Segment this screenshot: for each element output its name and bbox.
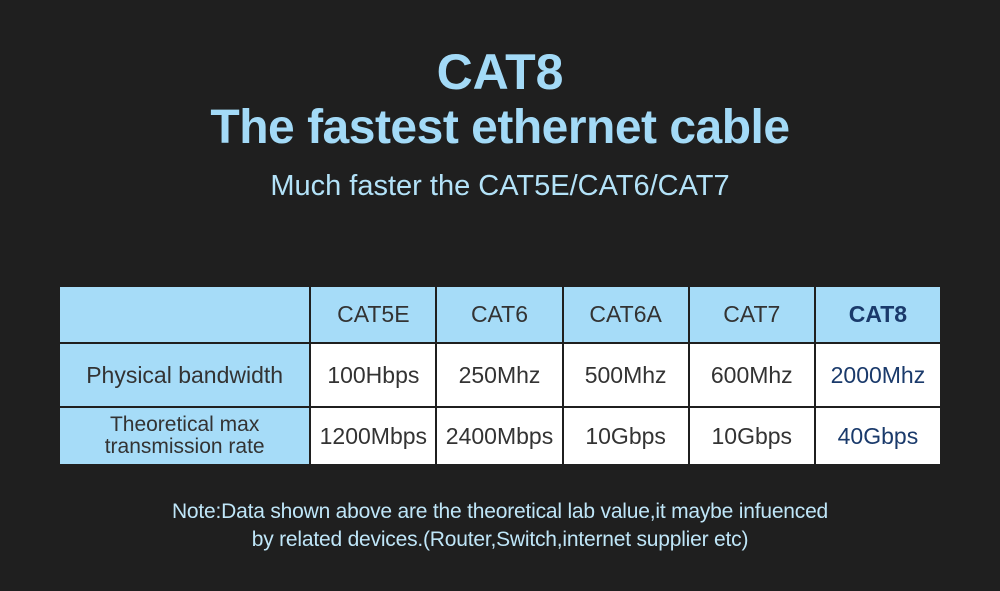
column-header-cat7: CAT7 bbox=[689, 286, 815, 343]
row-label-line-1: Theoretical max bbox=[60, 414, 309, 436]
cell-transmission-rate-cat5e: 1200Mbps bbox=[310, 407, 436, 465]
column-header-cat5e: CAT5E bbox=[310, 286, 436, 343]
cable-comparison-table: CAT5E CAT6 CAT6A CAT7 CAT8 Physical band… bbox=[58, 285, 942, 466]
cell-physical-bandwidth-cat6a: 500Mhz bbox=[563, 343, 689, 407]
cell-transmission-rate-cat6a: 10Gbps bbox=[563, 407, 689, 465]
cell-transmission-rate-cat7: 10Gbps bbox=[689, 407, 815, 465]
cell-physical-bandwidth-cat6: 250Mhz bbox=[436, 343, 562, 407]
row-label-line-2: transmission rate bbox=[60, 436, 309, 458]
cell-transmission-rate-cat6: 2400Mbps bbox=[436, 407, 562, 465]
column-header-cat6a: CAT6A bbox=[563, 286, 689, 343]
cell-physical-bandwidth-cat5e: 100Hbps bbox=[310, 343, 436, 407]
footnote-line-2: by related devices.(Router,Switch,intern… bbox=[0, 526, 1000, 554]
table-row: Physical bandwidth 100Hbps 250Mhz 500Mhz… bbox=[59, 343, 941, 407]
infographic-canvas: CAT8 The fastest ethernet cable Much fas… bbox=[0, 0, 1000, 591]
cell-physical-bandwidth-cat7: 600Mhz bbox=[689, 343, 815, 407]
page-title: CAT8 bbox=[0, 46, 1000, 99]
cell-physical-bandwidth-cat8: 2000Mhz bbox=[815, 343, 941, 407]
footnote: Note:Data shown above are the theoretica… bbox=[0, 498, 1000, 553]
cell-transmission-rate-cat8: 40Gbps bbox=[815, 407, 941, 465]
footnote-line-1: Note:Data shown above are the theoretica… bbox=[0, 498, 1000, 526]
column-header-cat8: CAT8 bbox=[815, 286, 941, 343]
table-header-row: CAT5E CAT6 CAT6A CAT7 CAT8 bbox=[59, 286, 941, 343]
page-subtitle: The fastest ethernet cable bbox=[0, 101, 1000, 155]
table-row: Theoretical max transmission rate 1200Mb… bbox=[59, 407, 941, 465]
heading-block: CAT8 The fastest ethernet cable Much fas… bbox=[0, 46, 1000, 204]
column-header-cat6: CAT6 bbox=[436, 286, 562, 343]
row-label-physical-bandwidth: Physical bandwidth bbox=[59, 343, 310, 407]
table-corner-cell bbox=[59, 286, 310, 343]
page-tagline: Much faster the CAT5E/CAT6/CAT7 bbox=[0, 169, 1000, 204]
row-label-transmission-rate: Theoretical max transmission rate bbox=[59, 407, 310, 465]
